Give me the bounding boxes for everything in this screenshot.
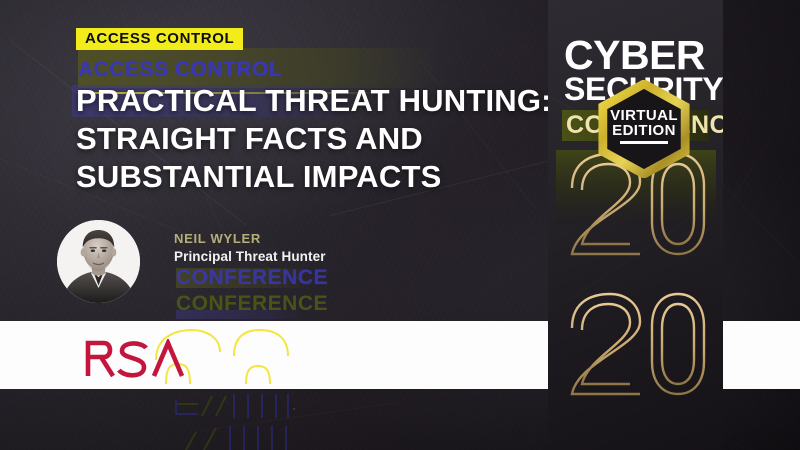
badge-underline [620, 141, 668, 144]
rsa-logo [84, 339, 194, 379]
brand-line-cyber: CYBER [564, 36, 705, 74]
title-line-2: STRAIGHT FACTS AND [76, 120, 552, 158]
virtual-edition-badge: VIRTUAL EDITION [595, 80, 693, 178]
rsa-wordmark [84, 339, 194, 379]
sponsor-bar-left [0, 321, 548, 389]
badge-label: VIRTUAL EDITION [595, 108, 693, 144]
speaker-avatar [57, 220, 140, 303]
speaker-name: NEIL WYLER [174, 231, 261, 246]
year-2020-graphic [556, 150, 716, 400]
title-line-3: SUBSTANTIAL IMPACTS [76, 158, 552, 196]
sponsor-bar-right [723, 321, 800, 389]
conference-logo-panel: CYBER SECURITY CONFERENCE [548, 0, 723, 450]
year-outline [556, 150, 716, 400]
badge-line-virtual: VIRTUAL [595, 108, 693, 123]
slide-title: PRACTICAL THREAT HUNTING: STRAIGHT FACTS… [76, 82, 552, 196]
presentation-slide: ACCESS CONTROL ACCESS CONTROL PRACTICAL … [0, 0, 800, 450]
title-line-1: PRACTICAL THREAT HUNTING: [76, 82, 552, 120]
avatar-image [57, 220, 140, 303]
category-tag: ACCESS CONTROL [76, 28, 243, 50]
badge-line-edition: EDITION [595, 123, 693, 138]
speaker-role: Principal Threat Hunter [174, 249, 326, 264]
